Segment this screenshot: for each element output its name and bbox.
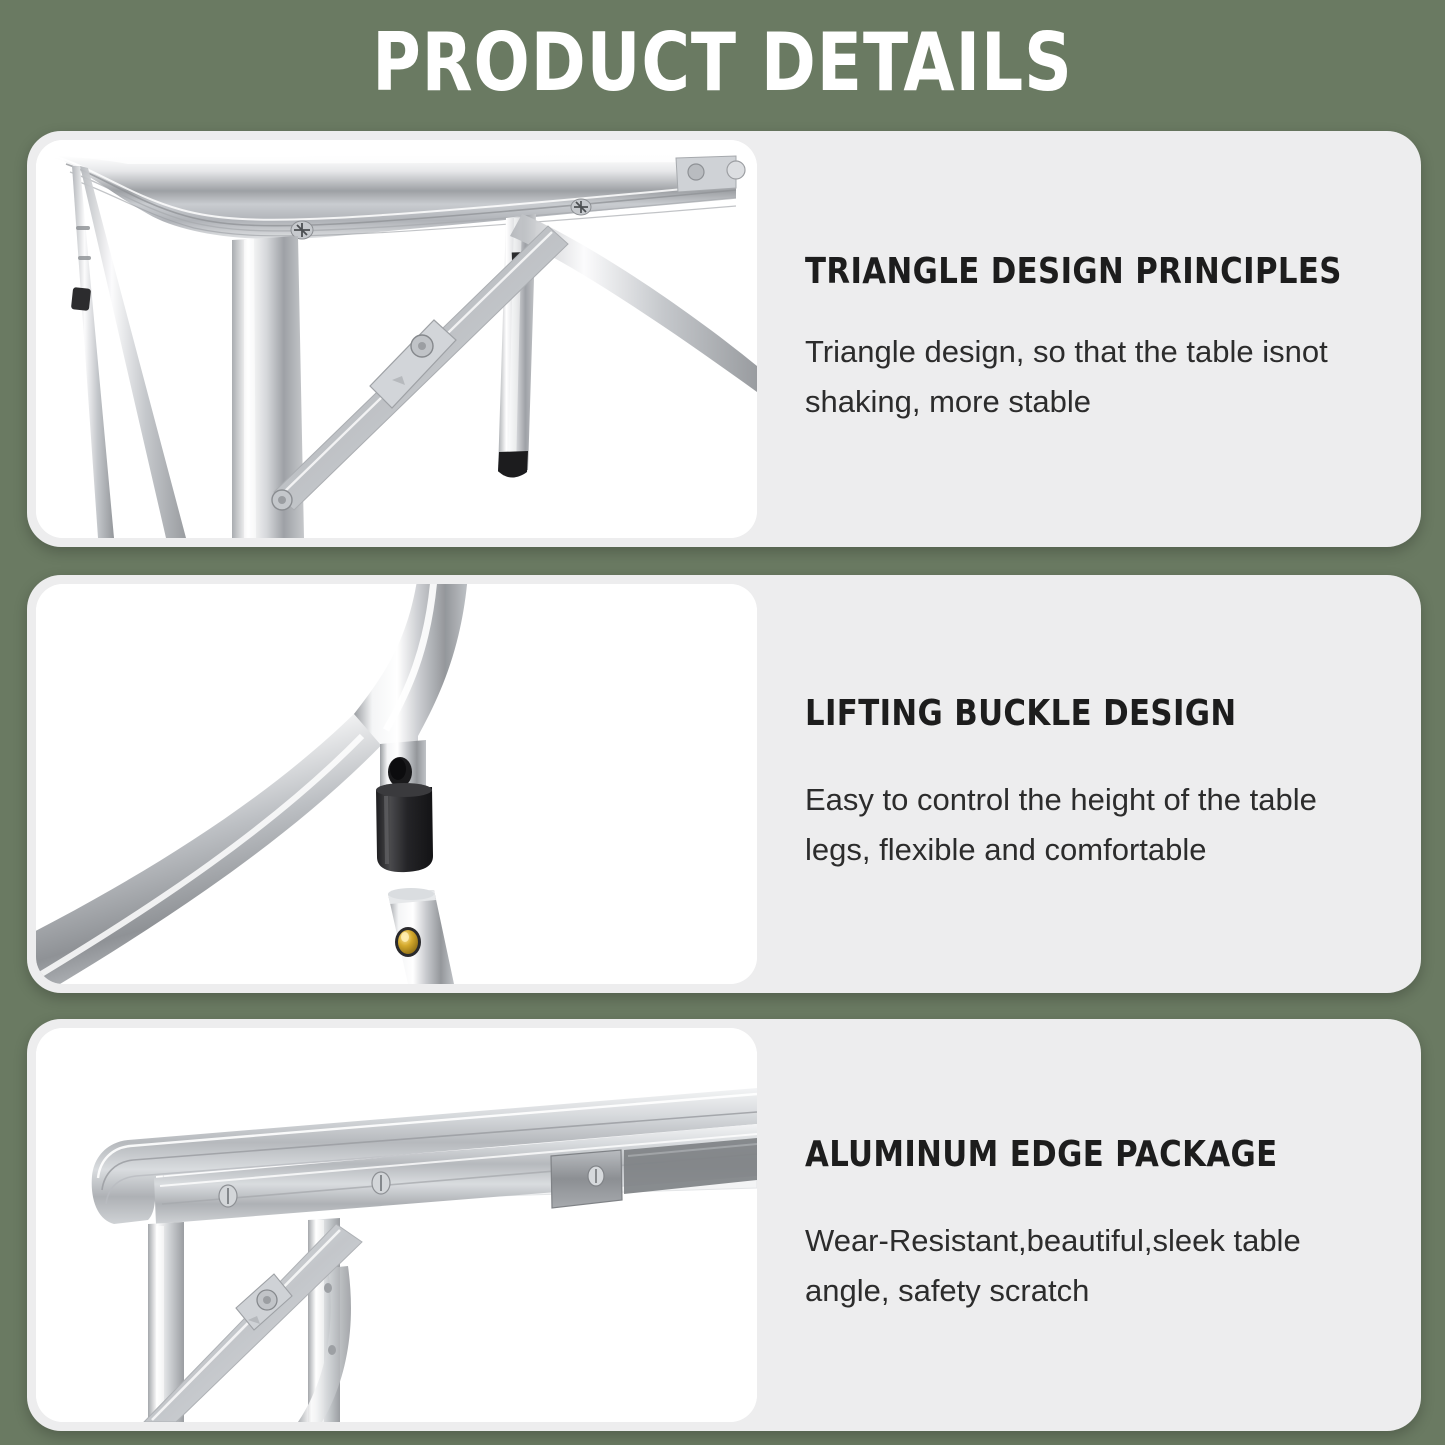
feature-title: ALUMINUM EDGE PACKAGE	[805, 1134, 1352, 1176]
lifting-buckle-illustration	[36, 584, 757, 984]
feature-card-aluminum-edge: ALUMINUM EDGE PACKAGE Wear-Resistant,bea…	[27, 1019, 1421, 1431]
feature-copy: ALUMINUM EDGE PACKAGE Wear-Resistant,bea…	[757, 1019, 1421, 1431]
product-photo-triangle-brace	[36, 140, 757, 538]
feature-copy: TRIANGLE DESIGN PRINCIPLES Triangle desi…	[757, 131, 1421, 547]
feature-description: Wear-Resistant,beautiful,sleek table ang…	[805, 1216, 1381, 1316]
aluminum-edge-illustration	[36, 1028, 757, 1422]
feature-card-triangle-design: TRIANGLE DESIGN PRINCIPLES Triangle desi…	[27, 131, 1421, 547]
triangle-brace-illustration	[36, 140, 757, 538]
infographic-page: PRODUCT DETAILS	[0, 0, 1445, 1445]
product-photo-lifting-buckle	[36, 584, 757, 984]
feature-card-lifting-buckle: LIFTING BUCKLE DESIGN Easy to control th…	[27, 575, 1421, 993]
feature-description: Easy to control the height of the table …	[805, 775, 1381, 875]
edge-rivet	[372, 1172, 390, 1194]
edge-rivet	[219, 1185, 237, 1207]
product-photo-aluminum-edge	[36, 1028, 757, 1422]
feature-title: LIFTING BUCKLE DESIGN	[805, 693, 1352, 735]
feature-description: Triangle design, so that the table isnot…	[805, 327, 1381, 427]
feature-title: TRIANGLE DESIGN PRINCIPLES	[805, 251, 1352, 293]
latch-rivet	[588, 1166, 604, 1186]
rail-screw	[571, 199, 591, 215]
feature-copy: LIFTING BUCKLE DESIGN Easy to control th…	[757, 575, 1421, 993]
page-title: PRODUCT DETAILS	[58, 8, 1387, 118]
